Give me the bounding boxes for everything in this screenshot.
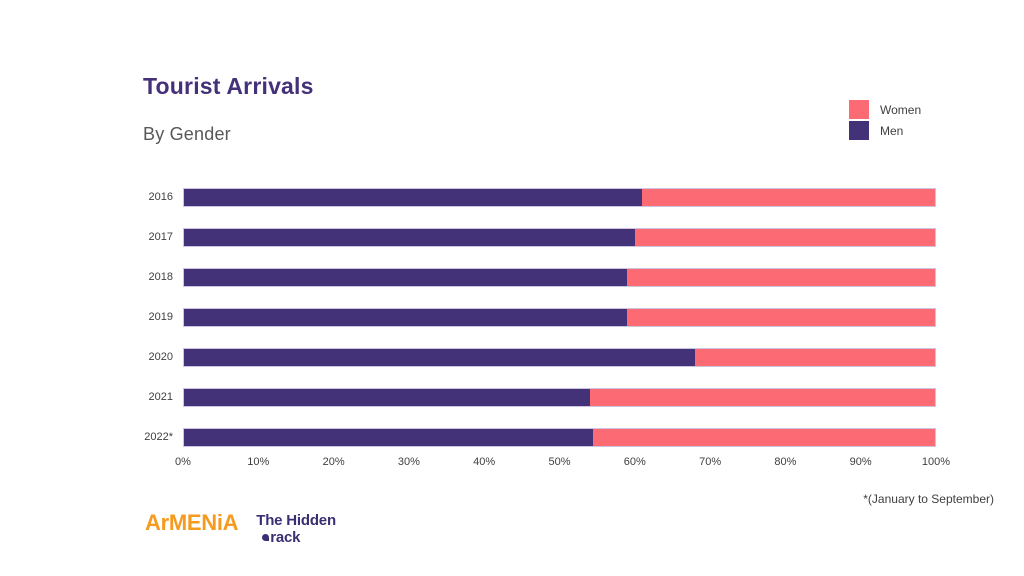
bar-segment-women [635,228,936,247]
branding-logos: ArMENiA The Hidden rack [145,512,336,547]
y-axis-tick-2021: 2021 [103,388,173,407]
bar-segment-men [183,268,627,287]
bar-segment-women [590,388,936,407]
x-axis-tick-30: 30% [398,456,420,468]
legend-item-women: Women [849,100,921,119]
teardrop-icon [262,534,269,541]
bar-row [183,308,936,327]
x-axis-labels: 0%10%20%30%40%50%60%70%80%90%100% [183,456,936,476]
x-axis-tick-100: 100% [922,456,950,468]
plot-area [183,188,936,456]
x-axis-tick-70: 70% [699,456,721,468]
bar-segment-men [183,348,695,367]
chart-subtitle: By Gender [143,124,231,145]
bar-row [183,348,936,367]
hidden-track-logo: The Hidden rack [256,512,336,547]
bar-segment-men [183,308,627,327]
bar-segment-women [627,308,936,327]
x-axis-tick-80: 80% [774,456,796,468]
chart-legend: Women Men [849,100,921,142]
x-axis-tick-10: 10% [247,456,269,468]
legend-swatch-men [849,121,869,140]
legend-item-men: Men [849,121,921,140]
y-axis-tick-2022star: 2022* [103,428,173,447]
armenia-logo: ArMENiA [145,512,238,534]
x-axis-tick-90: 90% [850,456,872,468]
chart-canvas: Tourist Arrivals By Gender Women Men 201… [0,0,1024,576]
y-axis-tick-2018: 2018 [103,268,173,287]
bar-segment-women [642,188,936,207]
y-axis-tick-2020: 2020 [103,348,173,367]
bar-row [183,228,936,247]
bar-segment-women [695,348,936,367]
y-axis-tick-2016: 2016 [103,188,173,207]
y-axis-tick-2017: 2017 [103,228,173,247]
legend-swatch-women [849,100,869,119]
bar-row [183,268,936,287]
y-axis-tick-2019: 2019 [103,308,173,327]
hidden-track-line2: rack [262,529,336,546]
page-title: Tourist Arrivals [143,73,314,100]
bar-row [183,428,936,447]
x-axis-tick-0: 0% [175,456,191,468]
bar-segment-men [183,228,635,247]
x-axis-tick-60: 60% [624,456,646,468]
bar-segment-women [627,268,936,287]
hidden-track-line1: The Hidden [256,512,336,529]
x-axis-tick-20: 20% [323,456,345,468]
x-axis-tick-40: 40% [473,456,495,468]
hidden-track-line2-text: rack [270,529,300,546]
bar-segment-men [183,428,593,447]
bar-segment-men [183,388,590,407]
bar-row [183,188,936,207]
legend-label-men: Men [880,124,903,138]
bar-row [183,388,936,407]
x-axis-tick-50: 50% [548,456,570,468]
bar-segment-men [183,188,642,207]
footnote: *(January to September) [863,492,994,506]
legend-label-women: Women [880,103,921,117]
bar-segment-women [593,428,936,447]
